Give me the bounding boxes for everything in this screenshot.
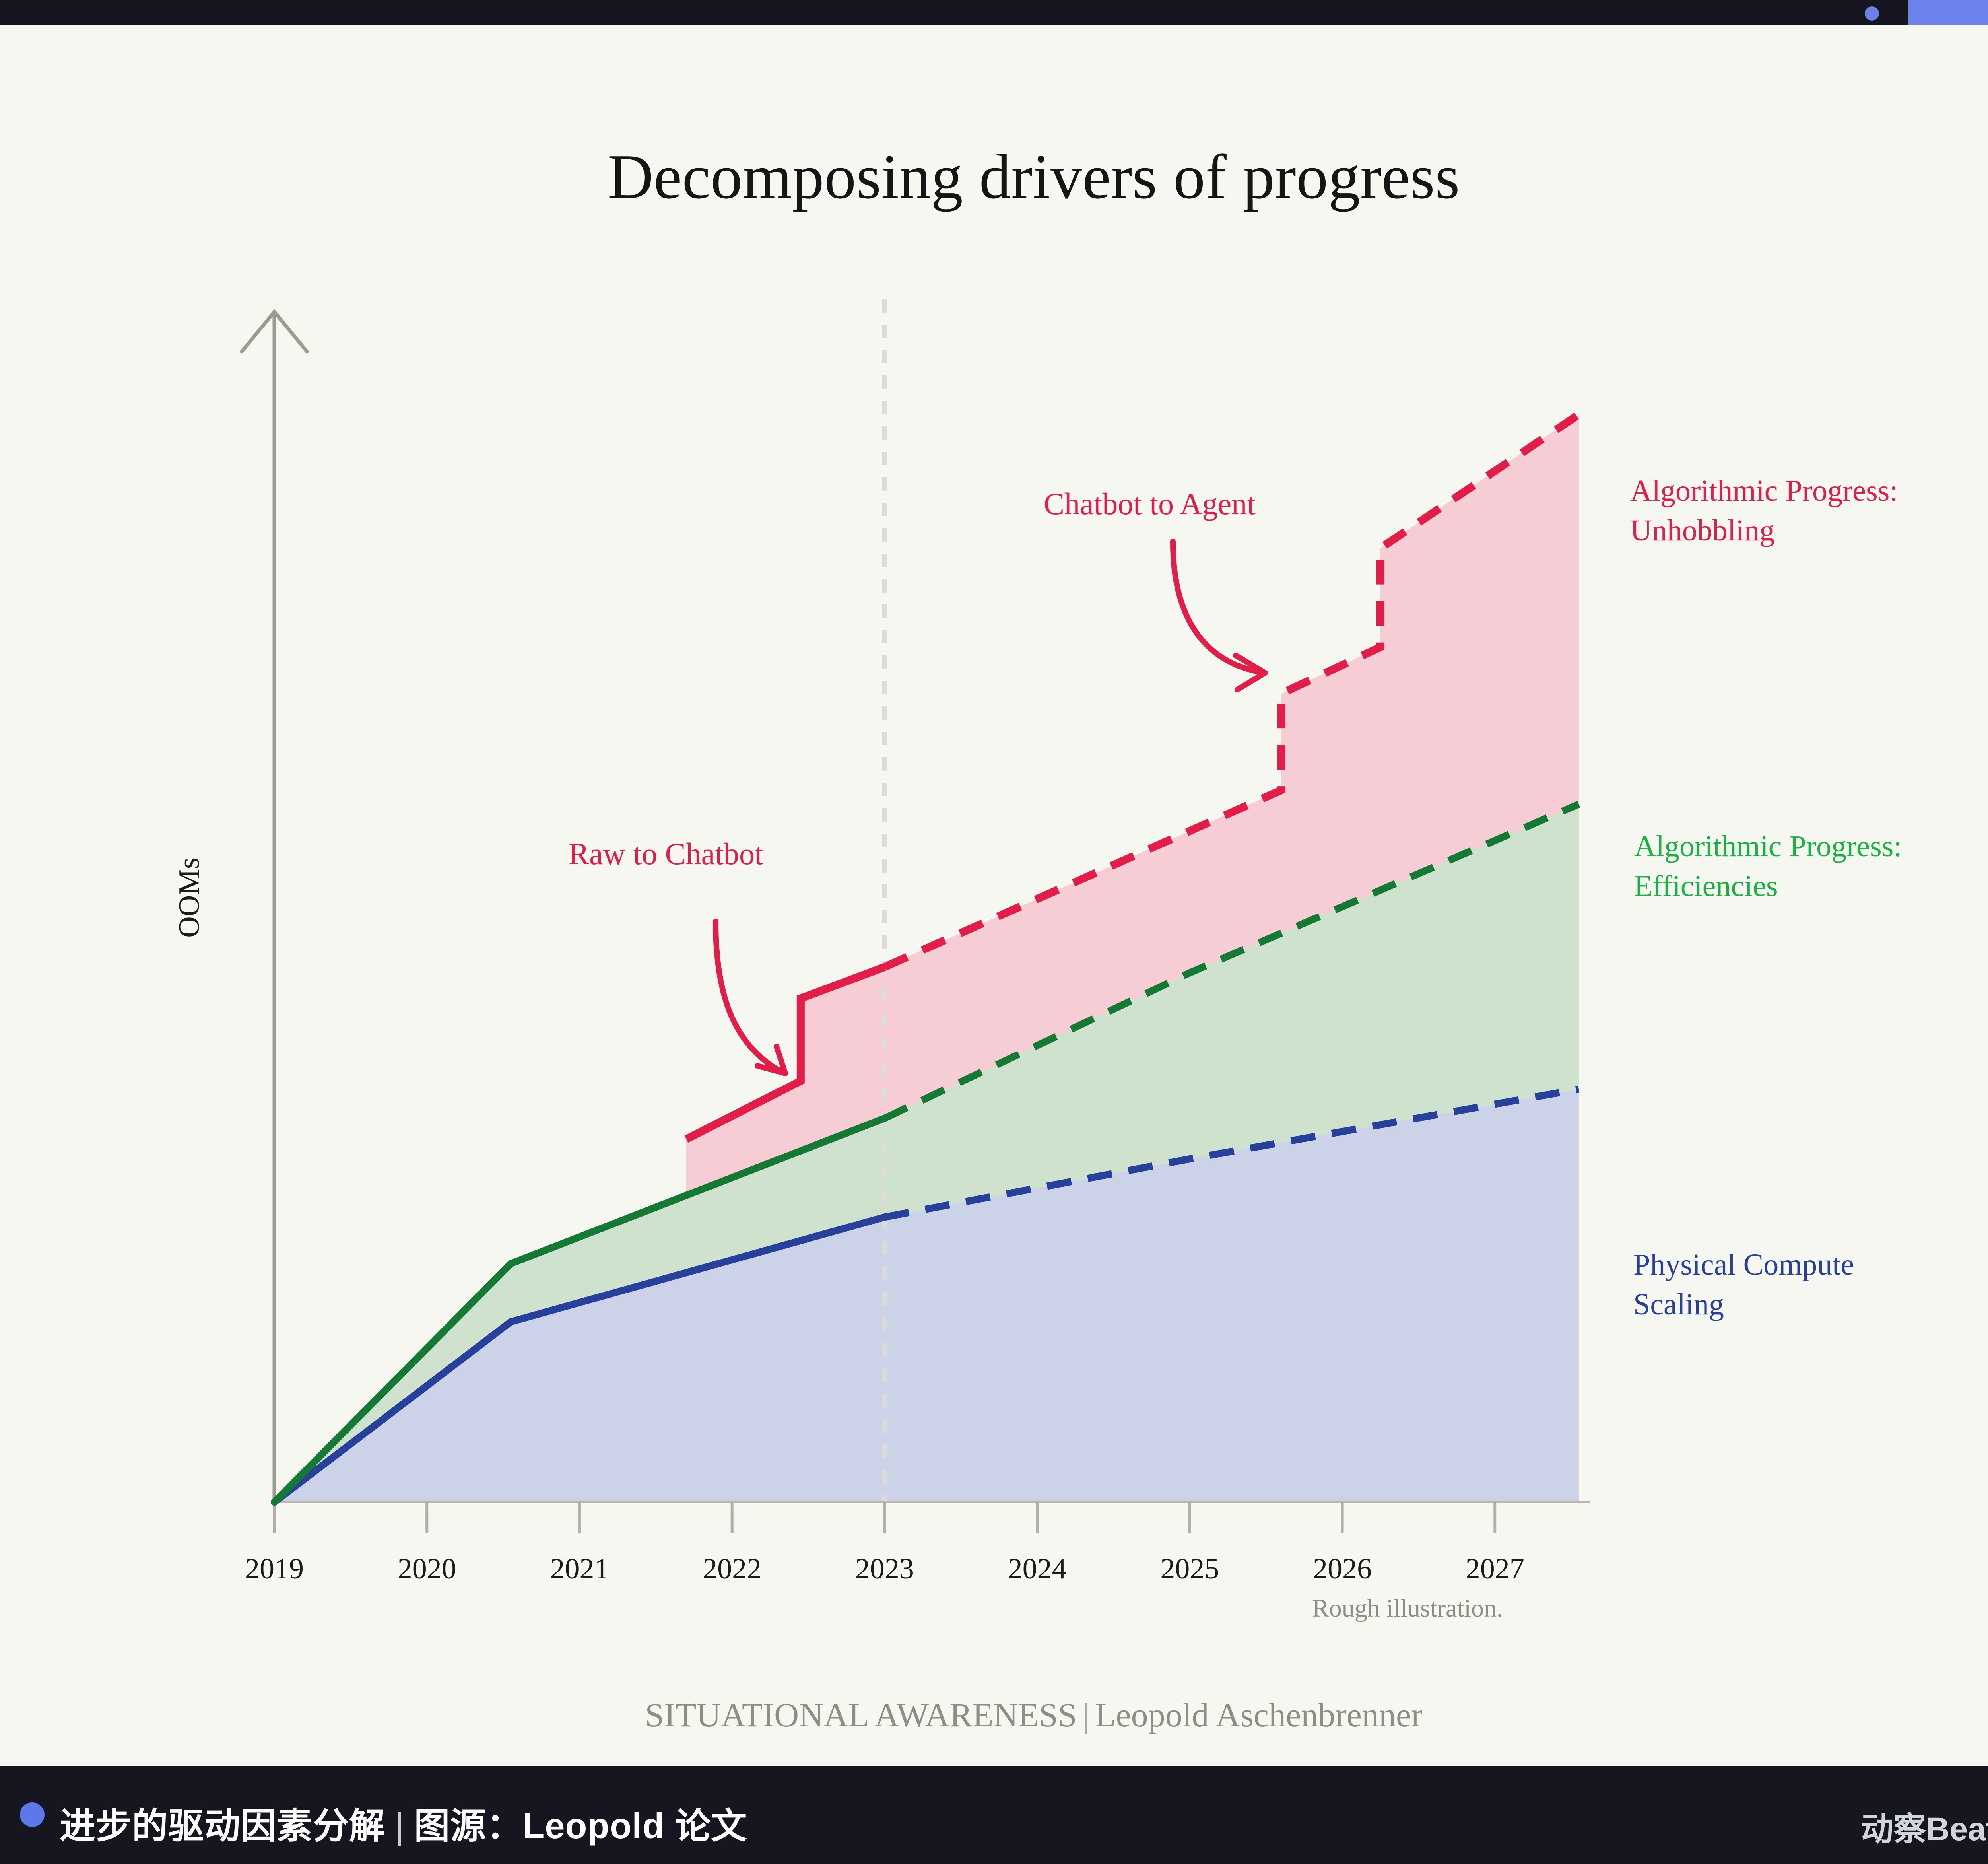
x-axis-ticks	[274, 1502, 1495, 1533]
screenshot-root: Decomposing drivers of progress 20192020…	[0, 0, 1988, 1864]
legend-unhobbling-line1: Algorithmic Progress:	[1630, 471, 1898, 511]
attribution-author: Leopold Aschenbrenner	[1095, 1696, 1423, 1734]
x-axis-tick-label: 2024	[1008, 1553, 1067, 1585]
bottom-caption-bar: 进步的驱动因素分解|图源：Leopold 论文 动察Beating	[0, 1766, 1988, 1864]
annotation-chatbot-to-agent: Chatbot to Agent	[1044, 486, 1256, 522]
x-axis-tick-label: 2023	[855, 1553, 914, 1585]
legend-compute: Physical Compute Scaling	[1633, 1245, 1854, 1325]
accent-block	[1908, 0, 1988, 25]
x-axis-tick-labels: 201920202021202220232024202520262027	[245, 1553, 1524, 1585]
attribution-source: SITUATIONAL AWARENESS	[645, 1696, 1077, 1734]
annotation-raw-to-chatbot: Raw to Chatbot	[569, 836, 763, 872]
legend-compute-line2: Scaling	[1633, 1285, 1854, 1324]
legend-efficiencies-line2: Efficiencies	[1634, 866, 1902, 906]
x-axis-tick-label: 2022	[703, 1553, 761, 1585]
brand-dot-icon	[1865, 6, 1879, 21]
legend-efficiencies: Algorithmic Progress: Efficiencies	[1634, 826, 1902, 906]
x-axis-tick-label: 2021	[550, 1553, 609, 1585]
x-axis-tick-label: 2025	[1160, 1553, 1219, 1585]
y-axis-label: OOMs	[173, 857, 206, 937]
bullet-dot-icon	[20, 1802, 45, 1827]
annotation-arrow-chatbot-to-agent	[1173, 542, 1265, 690]
legend-efficiencies-line1: Algorithmic Progress:	[1634, 826, 1902, 866]
bottom-caption-text: 进步的驱动因素分解	[60, 1806, 385, 1846]
bottom-caption-separator: |	[385, 1806, 414, 1847]
x-axis-tick-label: 2026	[1313, 1553, 1372, 1585]
bottom-caption: 进步的驱动因素分解|图源：Leopold 论文	[60, 1797, 747, 1848]
rough-illustration-note: Rough illustration.	[1312, 1594, 1503, 1623]
annotation-arrow-raw-to-chatbot	[716, 921, 785, 1073]
x-axis-tick-label: 2019	[245, 1553, 304, 1585]
x-axis-tick-label: 2020	[398, 1553, 456, 1585]
chart-canvas: Decomposing drivers of progress 20192020…	[0, 25, 1988, 1766]
x-axis-tick-label: 2027	[1466, 1553, 1524, 1585]
legend-unhobbling-line2: Unhobbling	[1630, 511, 1898, 550]
bottom-caption-source: 图源：Leopold 论文	[414, 1806, 747, 1846]
brand-logo: 动察Beating	[1861, 1802, 1988, 1850]
attribution: SITUATIONAL AWARENESS|Leopold Aschenbren…	[0, 1695, 1988, 1735]
attribution-separator: |	[1077, 1696, 1095, 1734]
top-accent-bar	[0, 0, 1988, 25]
legend-unhobbling: Algorithmic Progress: Unhobbling	[1630, 471, 1898, 551]
legend-compute-line1: Physical Compute	[1633, 1245, 1854, 1285]
